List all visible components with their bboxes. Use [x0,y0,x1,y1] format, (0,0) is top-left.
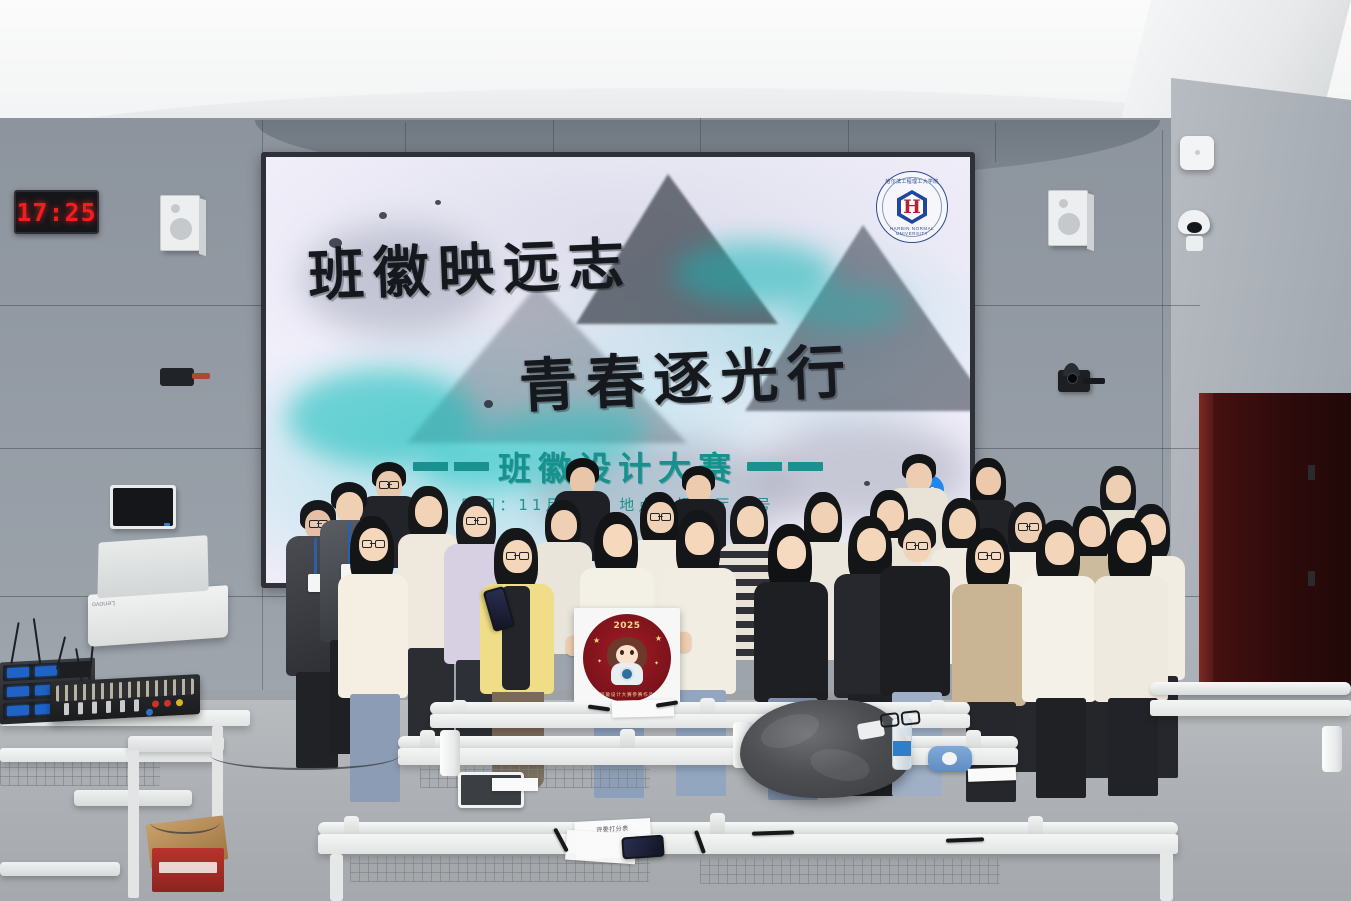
lecture-hall-photo: 17:25 [0,0,1351,901]
cable [150,810,220,834]
wall-seam [995,122,996,162]
screen-title-line1: 班徽映远志 [307,219,635,312]
display-screen [113,488,173,526]
audio-mixer[interactable] [50,674,200,722]
star-icon: ★ [593,636,600,645]
desk-basket [700,858,1000,884]
desk-rail [1150,682,1351,695]
ink-splatter [379,212,387,219]
university-emblem: 哈尔滨工程理工大学院 H HARBIN NORMAL UNIVERSITY [876,171,948,243]
clock-time: 17:25 [16,198,96,227]
red-storage-box [152,848,224,892]
speaker-side [1087,193,1094,251]
desk-leg [1160,852,1173,901]
emblem-top-text: 哈尔滨工程理工大学院 [877,178,947,185]
ink-splatter [435,200,441,205]
speaker-right-icon [1048,190,1088,246]
paper-sheet [492,778,538,791]
class-emblem-poster: 2025 ★ ★ ✦ ✦ 班徽设计大赛参赛作品 [574,608,680,708]
star-icon: ✦ [654,660,659,667]
chair-leg [128,750,139,898]
display-led-icon [164,523,170,526]
ink-splatter [484,400,493,408]
ptz-camera-left-icon [160,368,194,386]
screen-subtitle-row: 班徽设计大赛 [266,442,970,490]
chair [0,862,120,876]
speaker-left-icon [160,195,200,251]
emblem-letter: H [903,198,921,217]
door-hinge-icon [1308,465,1315,480]
wall-seam [700,118,701,156]
paper-cup [440,730,460,776]
desk [318,834,1178,854]
paper-sheet [968,767,1016,782]
chair [128,736,224,752]
emblem-bottom-text: 班徽设计大赛参赛作品 [583,692,671,698]
desk [398,748,1018,765]
bottle-label [893,741,911,756]
ptz-camera-arm [1083,378,1105,384]
subtitle-rule-left [413,462,489,471]
smartphone[interactable] [621,835,664,860]
desk-leg [330,854,343,901]
emblem-bottom-text: HARBIN NORMAL UNIVERSITY [877,226,947,236]
star-icon: ★ [655,634,662,643]
star-icon: ✦ [597,658,602,665]
wall-digital-clock: 17:25 [14,190,99,234]
lenovo-laptop[interactable]: Lenovo [88,585,228,647]
class-emblem: 2025 ★ ★ ✦ ✦ 班徽设计大赛参赛作品 [583,614,671,702]
door-hinge-icon [1308,571,1315,586]
paper-cup [1322,726,1342,772]
dome-camera-icon [1178,210,1210,234]
desk [1150,700,1351,716]
cable [210,740,400,770]
wall-display-panel [110,485,176,529]
speaker-side [199,198,206,256]
subtitle-rule-right [747,462,823,471]
wifi-access-point-icon [1180,136,1214,170]
laptop-lid [97,535,208,598]
pencil-pouch [928,746,972,772]
desk-post [710,813,725,835]
mixer-channel-strip [56,678,194,701]
laptop-brand-label: Lenovo [92,599,115,608]
emblem-year: 2025 [583,621,671,631]
screen-title-line2: 青春逐光行 [518,324,856,423]
emblem-character-icon [605,637,649,687]
dome-camera-base [1186,236,1203,251]
